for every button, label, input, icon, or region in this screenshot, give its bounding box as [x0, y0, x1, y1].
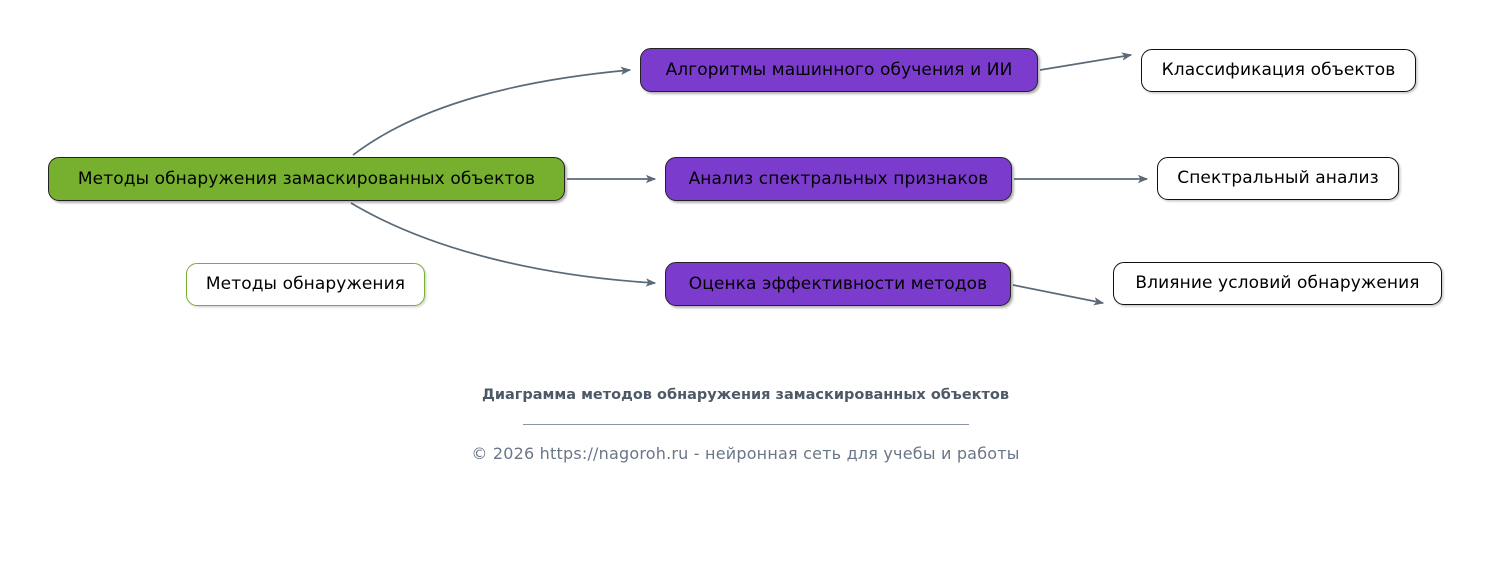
edge-root-to-ml	[353, 70, 630, 155]
footer-divider	[523, 424, 969, 425]
node-spectral-analysis[interactable]: Спектральный анализ	[1157, 157, 1399, 200]
node-spectral-features[interactable]: Анализ спектральных признаков	[665, 157, 1012, 201]
edge-evaluation-to-conditions	[1013, 285, 1103, 303]
node-object-classification-label: Классификация объектов	[1162, 62, 1396, 79]
diagram-title: Диаграмма методов обнаружения замаскиров…	[466, 386, 1026, 405]
node-method-evaluation[interactable]: Оценка эффективности методов	[665, 262, 1011, 306]
node-ml-algorithms-label: Алгоритмы машинного обучения и ИИ	[666, 62, 1013, 79]
diagram-canvas: Методы обнаружения замаскированных объек…	[0, 0, 1491, 563]
node-legend[interactable]: Методы обнаружения	[186, 263, 425, 306]
footer-credit: © 2026 https://nagoroh.ru - нейронная се…	[0, 444, 1491, 463]
node-spectral-features-label: Анализ спектральных признаков	[689, 171, 989, 188]
node-root-label: Методы обнаружения замаскированных объек…	[78, 171, 535, 188]
node-root[interactable]: Методы обнаружения замаскированных объек…	[48, 157, 565, 201]
node-detection-conditions-label: Влияние условий обнаружения	[1135, 275, 1419, 292]
node-detection-conditions[interactable]: Влияние условий обнаружения	[1113, 262, 1442, 305]
node-object-classification[interactable]: Классификация объектов	[1141, 49, 1416, 92]
node-legend-label: Методы обнаружения	[206, 276, 405, 293]
node-ml-algorithms[interactable]: Алгоритмы машинного обучения и ИИ	[640, 48, 1038, 92]
node-spectral-analysis-label: Спектральный анализ	[1177, 170, 1379, 187]
edge-ml-to-classification	[1040, 55, 1131, 70]
node-method-evaluation-label: Оценка эффективности методов	[689, 276, 988, 293]
footer: Диаграмма методов обнаружения замаскиров…	[0, 386, 1491, 463]
